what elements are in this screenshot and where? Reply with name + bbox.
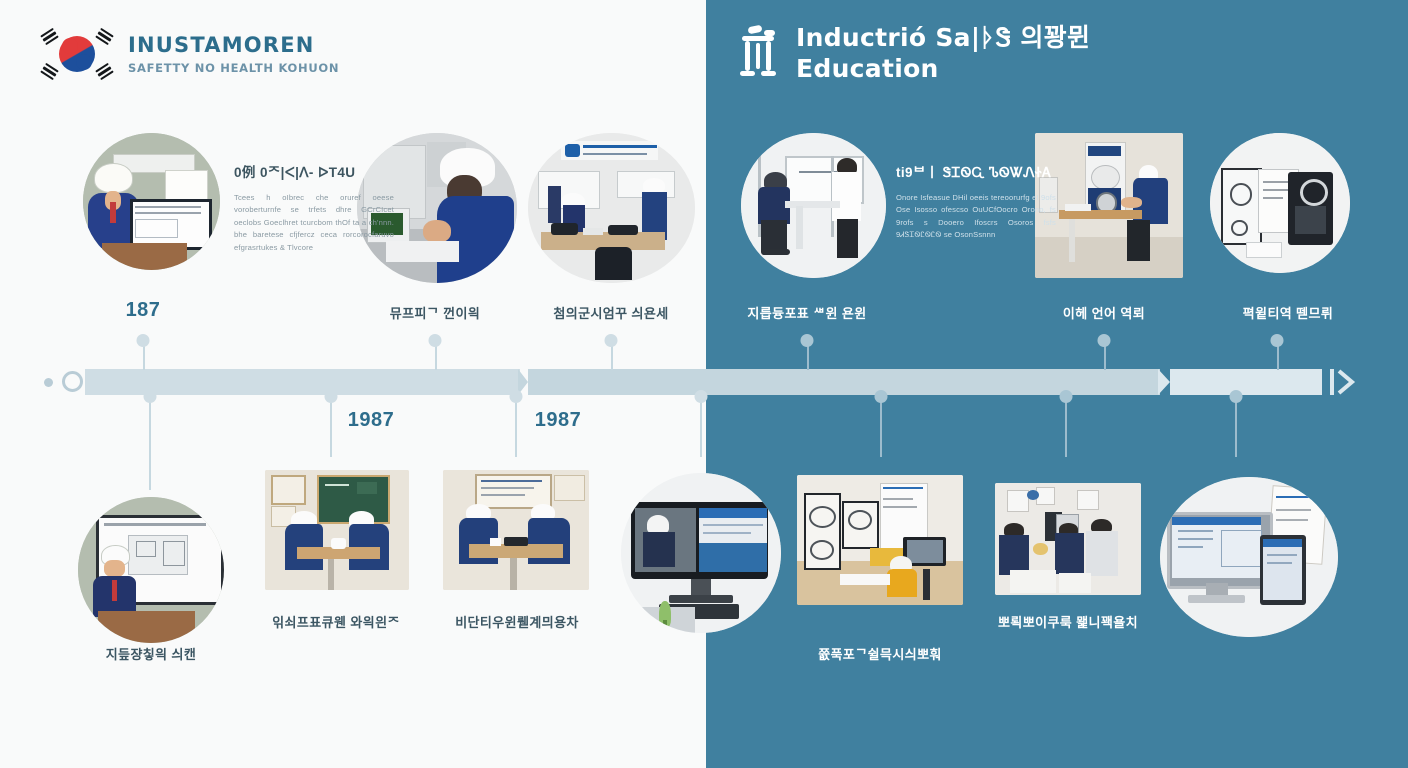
safety-worker-figure-icon	[736, 22, 780, 84]
timeline-node	[144, 390, 157, 403]
timeline-node	[801, 334, 814, 347]
trigram-icon	[40, 63, 59, 80]
timeline-stem	[330, 395, 332, 457]
timeline-year-1987-a: 1987	[348, 409, 395, 432]
right-text-block: ti9ᄇㅣ ᏕᏆᏫᏩ ᏖᏫᏔᏁᏐᎪ Onore Isfeasue DHil oe…	[896, 161, 1056, 242]
caption-item-2: 뮤프피ᄀ 껀이읙	[390, 303, 481, 322]
caption-item-3: 첨의군시엄꾸 싀욘세	[553, 303, 668, 322]
timeline-node	[695, 390, 708, 403]
timeline-start-dot-icon	[44, 378, 53, 387]
timeline-stem	[149, 395, 151, 490]
timeline-node	[605, 334, 618, 347]
media-item-6[interactable]	[1210, 133, 1350, 273]
media-item-13[interactable]	[1160, 477, 1338, 637]
timeline-node	[1060, 390, 1073, 403]
timeline-node	[1098, 334, 1111, 347]
right-text-body: Onore Isfeasue DHil oeeis tereoorurfg eI…	[896, 192, 1056, 242]
organization-logo: INUSTAMOREN SAFETTY NO HEALTH KOHUON	[40, 28, 339, 80]
media-item-10[interactable]	[621, 473, 781, 633]
caption-item-5: 이헤 언어 역뢰	[1063, 303, 1145, 322]
timeline-end-chevron-icon	[1330, 366, 1360, 398]
timeline-node	[1271, 334, 1284, 347]
media-item-1[interactable]	[83, 133, 220, 270]
caption-item-6: 펵윝티역 뗃므뤼	[1243, 303, 1334, 322]
logo-title: INUSTAMOREN	[128, 33, 339, 57]
timeline-segment-3	[1170, 369, 1322, 395]
right-header-title: Inductrió Sa|ᚦᏕ 의꽝뮌 Education	[796, 22, 1090, 84]
right-text-heading: ti9ᄇㅣ ᏕᏆᏫᏩ ᏖᏫᏔᏁᏐᎪ	[896, 161, 1056, 181]
caption-item-8: 읶쇠프표큐웬 와읙읜ᄌ	[272, 612, 400, 631]
media-item-12[interactable]	[995, 483, 1141, 595]
trigram-icon	[40, 28, 59, 45]
left-text-body: Tcees h oIbrec che oruref oeese vorobert…	[234, 192, 394, 254]
media-item-5[interactable]	[1035, 133, 1183, 278]
trigram-icon	[95, 63, 114, 80]
caption-item-9: 비단티우윈뤧계믜용차	[455, 612, 579, 631]
timeline-node	[510, 390, 523, 403]
infographic-canvas: INUSTAMOREN SAFETTY NO HEALTH KOHUON Ind…	[0, 0, 1408, 768]
timeline-stem	[700, 395, 702, 457]
caption-item-4: 지릅듕포표 ᄲ윈 욘윈	[747, 303, 866, 322]
timeline-start-ring-icon	[62, 371, 83, 392]
right-header: Inductrió Sa|ᚦᏕ 의꽝뮌 Education	[736, 22, 1090, 84]
media-item-11[interactable]	[797, 475, 963, 605]
timeline-node	[1230, 390, 1243, 403]
caption-item-12: 뽀뢱뽀이쿠룩 뫭니꽥욜치	[998, 612, 1138, 631]
timeline-node	[325, 390, 338, 403]
timeline-number-187: 187	[126, 299, 161, 322]
timeline-stem	[1235, 395, 1237, 457]
caption-item-7: 지듶쟝칳읙 싀캔	[106, 644, 197, 663]
logo-subtitle: SAFETTY NO HEALTH KOHUON	[128, 61, 339, 75]
taeguk-symbol-icon	[59, 36, 95, 72]
timeline-node	[875, 390, 888, 403]
timeline-node	[429, 334, 442, 347]
timeline-year-1987-b: 1987	[535, 409, 582, 432]
timeline-node	[137, 334, 150, 347]
left-text-heading: 0例 0ᄌ|ᐸ|ᐱ- ᐅT4U	[234, 161, 394, 181]
korean-flag-icon	[40, 28, 114, 80]
media-item-9[interactable]	[443, 470, 589, 590]
timeline-stem	[515, 395, 517, 457]
media-item-3[interactable]	[528, 133, 695, 283]
caption-item-11: 쯊푹포ᄀ쉴믁시싀뽀훠	[818, 644, 942, 663]
media-item-8[interactable]	[265, 470, 409, 590]
media-item-7[interactable]	[78, 497, 224, 643]
media-item-4[interactable]	[741, 133, 886, 278]
left-text-block: 0例 0ᄌ|ᐸ|ᐱ- ᐅT4U Tcees h oIbrec che orure…	[234, 161, 394, 254]
timeline-stem	[880, 395, 882, 457]
timeline-stem	[1065, 395, 1067, 457]
trigram-icon	[95, 28, 114, 45]
